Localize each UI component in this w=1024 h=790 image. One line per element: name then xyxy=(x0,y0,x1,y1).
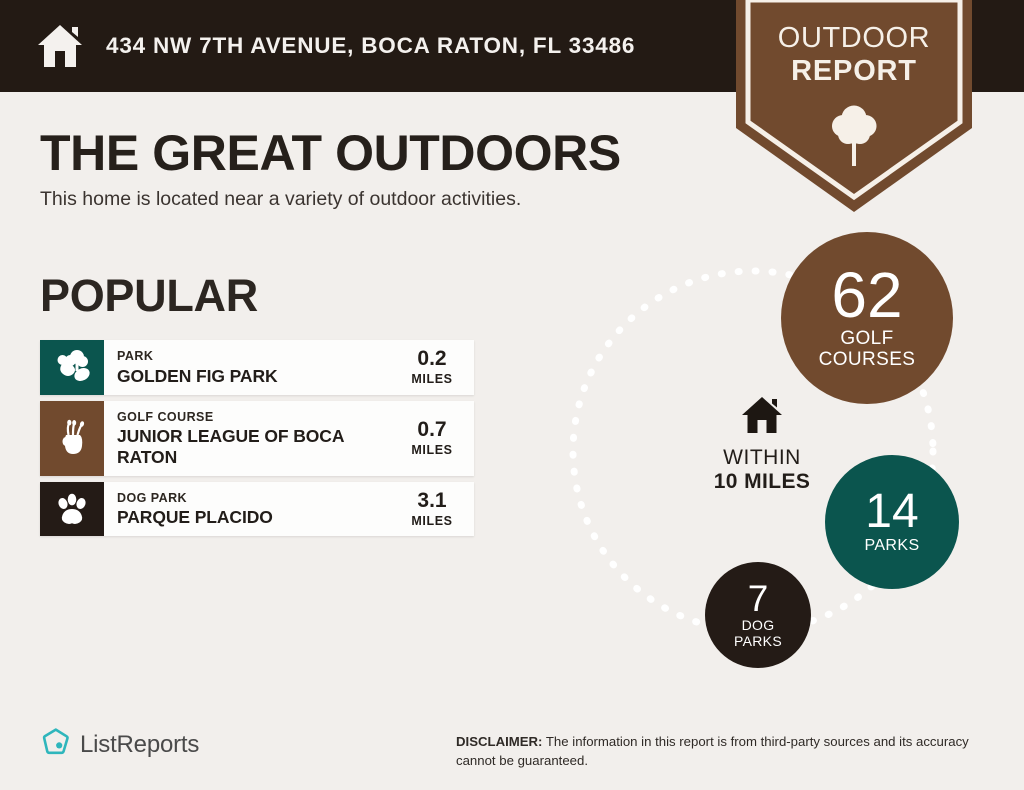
list-item-name: GOLDEN FIG PARK xyxy=(117,366,392,386)
within-10-miles-diagram: 62 GOLF COURSES 14 PARKS 7 DOG PARKS xyxy=(520,215,1020,695)
paw-print-icon xyxy=(40,482,104,537)
list-item[interactable]: GOLF COURSE JUNIOR LEAGUE OF BOCA RATON … xyxy=(40,401,474,476)
disclaimer-label: DISCLAIMER: xyxy=(456,734,542,749)
popular-places-list: PARK GOLDEN FIG PARK 0.2 MILES xyxy=(40,340,474,542)
list-item-category: GOLF COURSE xyxy=(117,410,392,426)
stat-label-line1: GOLF xyxy=(819,329,916,350)
listreports-house-icon xyxy=(42,727,70,762)
distance-value: 0.2 xyxy=(417,348,446,369)
list-item-category: DOG PARK xyxy=(117,491,392,507)
distance-value: 0.7 xyxy=(417,419,446,440)
list-item-text: GOLF COURSE JUNIOR LEAGUE OF BOCA RATON xyxy=(104,401,398,476)
stat-label-line1: DOG xyxy=(734,618,782,633)
list-item[interactable]: PARK GOLDEN FIG PARK 0.2 MILES xyxy=(40,340,474,395)
list-item-distance: 0.7 MILES xyxy=(398,401,474,476)
page-subtitle: This home is located near a variety of o… xyxy=(40,188,521,211)
listreports-logo[interactable]: ListReports xyxy=(42,727,199,762)
list-item-category: PARK xyxy=(117,349,392,365)
within-text: WITHIN xyxy=(672,446,852,470)
stat-label: PARKS xyxy=(864,537,919,555)
miles-text: 10 MILES xyxy=(672,470,852,494)
stat-value: 62 xyxy=(831,265,902,326)
list-item[interactable]: DOG PARK PARQUE PLACIDO 3.1 MILES xyxy=(40,482,474,537)
stat-label-line1: PARKS xyxy=(864,537,919,555)
page-title: THE GREAT OUTDOORS xyxy=(40,124,621,182)
property-address: 434 NW 7TH AVENUE, BOCA RATON, FL 33486 xyxy=(106,33,635,59)
park-trees-icon xyxy=(40,340,104,395)
distance-value: 3.1 xyxy=(417,490,446,511)
list-item-distance: 0.2 MILES xyxy=(398,340,474,395)
list-item-distance: 3.1 MILES xyxy=(398,482,474,537)
home-icon xyxy=(36,23,84,69)
list-item-name: PARQUE PLACIDO xyxy=(117,507,392,527)
stat-value: 7 xyxy=(748,581,769,616)
distance-unit: MILES xyxy=(411,443,452,457)
stat-bubble-golf-courses[interactable]: 62 GOLF COURSES xyxy=(781,232,953,404)
outdoor-report-badge: OUTDOOR REPORT xyxy=(736,0,972,212)
list-item-text: PARK GOLDEN FIG PARK xyxy=(104,340,398,395)
stat-label: DOG PARKS xyxy=(734,618,782,649)
stat-bubble-dog-parks[interactable]: 7 DOG PARKS xyxy=(705,562,811,668)
golf-bag-icon xyxy=(40,401,104,476)
outdoor-report-infographic: 434 NW 7TH AVENUE, BOCA RATON, FL 33486 … xyxy=(0,0,1024,790)
disclaimer: DISCLAIMER: The information in this repo… xyxy=(456,732,990,770)
home-icon xyxy=(672,395,852,435)
diagram-center-label: WITHIN 10 MILES xyxy=(672,395,852,493)
stat-value: 14 xyxy=(865,489,918,535)
stat-label-line2: PARKS xyxy=(734,634,782,649)
section-heading-popular: POPULAR xyxy=(40,270,258,322)
stat-label: GOLF COURSES xyxy=(819,329,916,371)
distance-unit: MILES xyxy=(411,514,452,528)
list-item-name: JUNIOR LEAGUE OF BOCA RATON xyxy=(117,426,392,466)
listreports-wordmark: ListReports xyxy=(80,731,199,759)
list-item-text: DOG PARK PARQUE PLACIDO xyxy=(104,482,398,537)
distance-unit: MILES xyxy=(411,372,452,386)
stat-label-line2: COURSES xyxy=(819,350,916,371)
